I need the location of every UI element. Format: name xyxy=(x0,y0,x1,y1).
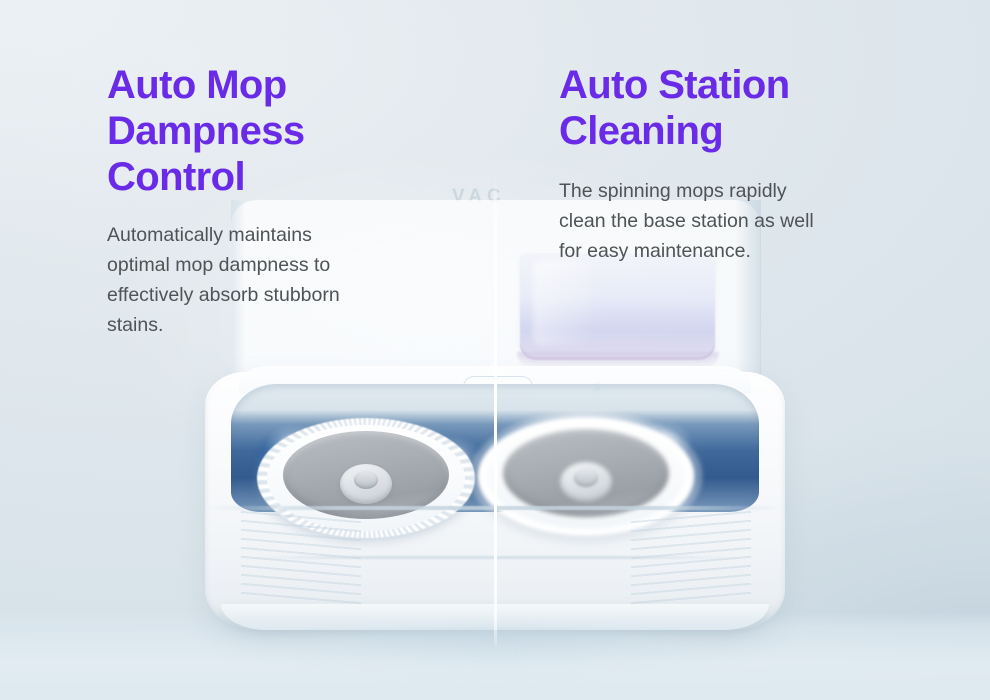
product-feature-banner: VAC xyxy=(0,0,990,700)
feature-panel-right: Auto Station Cleaning The spinning mops … xyxy=(559,62,909,266)
right-headline: Auto Station Cleaning xyxy=(559,62,909,154)
left-headline: Auto Mop Dampness Control xyxy=(107,62,447,200)
center-divider xyxy=(494,176,497,646)
water-tank-gloss xyxy=(533,260,593,346)
right-description: The spinning mops rapidly clean the base… xyxy=(559,176,909,266)
mop-hub-core xyxy=(354,471,378,489)
left-description: Automatically maintains optimal mop damp… xyxy=(107,220,447,340)
feature-panel-left: Auto Mop Dampness Control Automatically … xyxy=(107,62,447,340)
mop-hub-core xyxy=(574,469,598,487)
